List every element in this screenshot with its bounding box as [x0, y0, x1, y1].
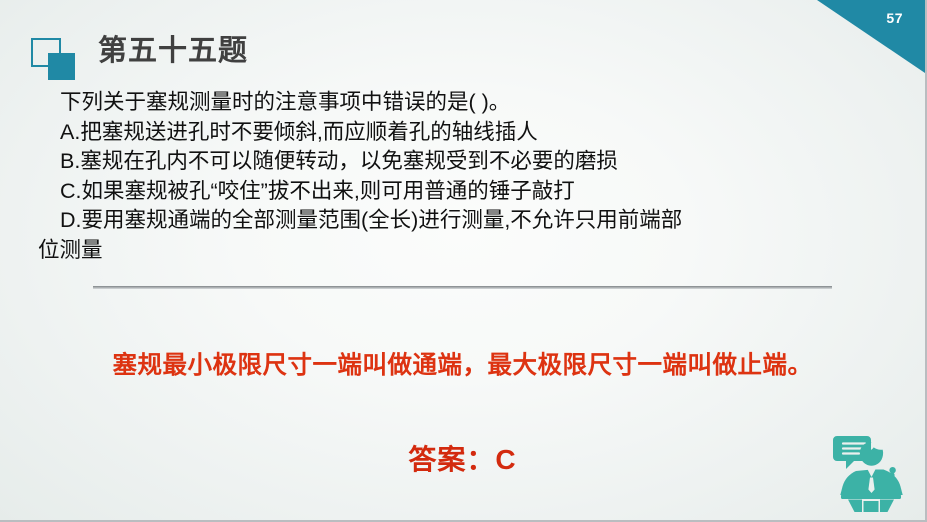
slide-canvas: 57 第五十五题 下列关于塞规测量时的注意事项中错误的是( )。 A.把塞规送进… [0, 0, 927, 522]
title-row: 第五十五题 [31, 36, 248, 82]
question-option-b: B.塞规在孔内不可以随便转动，以免塞规受到不必要的磨损 [38, 147, 898, 177]
speaker-podium-icon [829, 426, 913, 512]
explanation-note: 塞规最小极限尺寸一端叫做通端，最大极限尺寸一端叫做止端。 [0, 346, 925, 381]
overlapping-squares-icon [31, 38, 79, 82]
question-stem: 下列关于塞规测量时的注意事项中错误的是( )。 [38, 88, 898, 118]
square-filled-shape [48, 53, 75, 80]
corner-triangle-decoration [817, 0, 925, 73]
question-option-c: C.如果塞规被孔“咬住”拔不出来,则可用普通的锤子敲打 [38, 177, 898, 207]
question-option-d-tail: 位测量 [38, 236, 898, 266]
question-option-a: A.把塞规送进孔时不要倾斜,而应顺着孔的轴线插人 [38, 118, 898, 148]
page-number: 57 [886, 11, 903, 25]
page-title: 第五十五题 [98, 36, 248, 66]
question-option-d: D.要用塞规通端的全部测量范围(全长)进行测量,不允许只用前端部 位测量 [38, 206, 898, 265]
question-block: 下列关于塞规测量时的注意事项中错误的是( )。 A.把塞规送进孔时不要倾斜,而应… [38, 88, 898, 265]
horizontal-divider [93, 286, 832, 289]
answer-text: 答案：C [0, 438, 925, 478]
question-option-d-head: D.要用塞规通端的全部测量范围(全长)进行测量,不允许只用前端部 [60, 208, 682, 232]
